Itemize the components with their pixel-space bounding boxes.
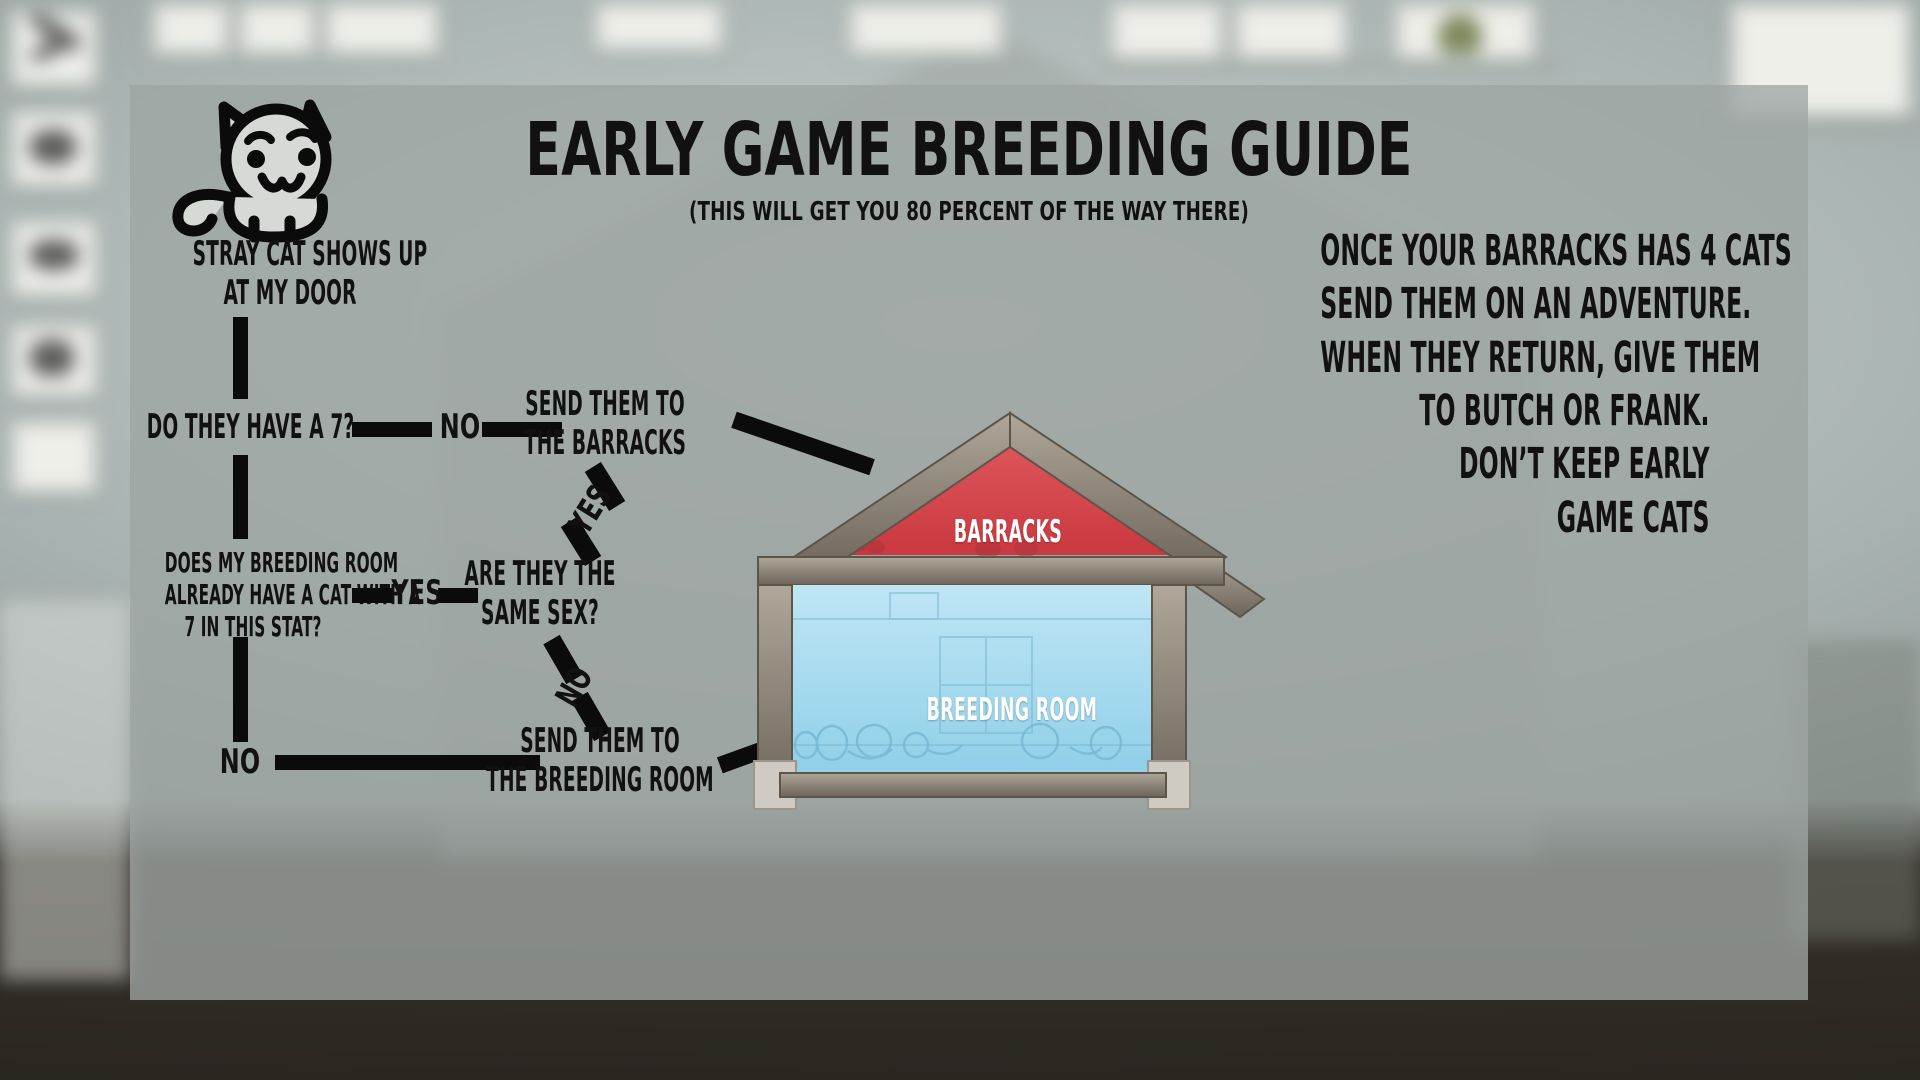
flow-connector-start-to-has7 bbox=[233, 317, 248, 399]
background-picture-frame bbox=[1108, 0, 1226, 64]
background-picture-frame bbox=[8, 418, 100, 496]
flow-node-start-line: STRAY CAT SHOWS UP bbox=[193, 235, 388, 274]
barracks-room-label: BARRACKS bbox=[930, 517, 1086, 548]
flow-connector-has7-to-no bbox=[352, 422, 432, 437]
background-decor-shape bbox=[30, 130, 76, 164]
advice-line: TO BUTCH OR FRANK. bbox=[1320, 385, 1709, 438]
advice-line: ONCE YOUR BARRACKS HAS 4 CATS bbox=[1320, 225, 1709, 278]
advice-line: WHEN THEY RETURN, GIVE THEM bbox=[1320, 332, 1709, 385]
screenshot-root: EARLY GAME BREEDING GUIDE (THIS WILL GET… bbox=[0, 0, 1920, 1080]
breeding-room-label-text: BREEDING ROOM bbox=[918, 695, 1105, 726]
advice-line: SEND THEM ON AN ADVENTURE. bbox=[1320, 278, 1709, 331]
page-title: EARLY GAME BREEDING GUIDE bbox=[315, 113, 1624, 187]
advice-line: DON’T KEEP EARLY bbox=[1320, 438, 1709, 491]
flow-node-send-barracks-line: SEND THEM TO bbox=[495, 385, 714, 424]
flow-edge-label-roomhas7-no: NO bbox=[217, 745, 264, 779]
background-plant bbox=[1438, 14, 1482, 54]
flow-node-start-line: AT MY DOOR bbox=[193, 274, 388, 313]
flow-connector-has7-to-roomhas7 bbox=[233, 455, 248, 539]
background-shelf bbox=[0, 600, 130, 980]
flow-node-room-has-7-line: DOES MY BREEDING ROOM bbox=[165, 547, 341, 579]
flow-node-same-sex: ARE THEY THE SAME SEX? bbox=[427, 555, 653, 633]
flow-connector-roomhas7-to-no bbox=[233, 637, 248, 742]
background-shelf bbox=[1100, 60, 1560, 70]
background-picture-frame bbox=[846, 0, 1006, 58]
flow-node-start: STRAY CAT SHOWS UP AT MY DOOR bbox=[165, 235, 415, 313]
advice-text-block: ONCE YOUR BARRACKS HAS 4 CATS SEND THEM … bbox=[1210, 225, 1709, 545]
flow-node-has-7: DO THEY HAVE A 7? bbox=[122, 408, 348, 447]
flow-node-send-barracks-line: THE BARRACKS bbox=[495, 424, 714, 463]
background-picture-frame bbox=[150, 0, 232, 58]
flow-node-same-sex-line: ARE THEY THE bbox=[452, 555, 628, 594]
breeding-room-label: BREEDING ROOM bbox=[895, 695, 1129, 726]
background-decor-shape bbox=[30, 340, 74, 376]
background-picture-frame bbox=[1232, 0, 1350, 64]
barracks-room-label-text: BARRACKS bbox=[946, 517, 1071, 548]
house-illustration: BARRACKS BREEDING ROOM bbox=[740, 405, 1280, 855]
flow-node-room-has-7-line: 7 IN THIS STAT? bbox=[165, 611, 341, 643]
flow-connector-roomhas7-to-yes bbox=[352, 588, 392, 603]
background-decor-shape bbox=[30, 240, 78, 270]
flow-node-send-breeding-room-line: THE BREEDING ROOM bbox=[469, 761, 731, 800]
flow-node-send-breeding-room-line: SEND THEM TO bbox=[469, 722, 731, 761]
background-picture-frame bbox=[236, 0, 318, 58]
guide-overlay-card: EARLY GAME BREEDING GUIDE (THIS WILL GET… bbox=[130, 85, 1808, 1000]
background-picture-frame bbox=[322, 0, 442, 58]
background-picture-frame bbox=[592, 0, 726, 54]
flow-node-same-sex-line: SAME SEX? bbox=[452, 594, 628, 633]
flow-node-room-has-7-line: ALREADY HAVE A CAT WITH A bbox=[165, 579, 341, 611]
flow-node-room-has-7: DOES MY BREEDING ROOM ALREADY HAVE A CAT… bbox=[140, 547, 366, 643]
flow-node-send-barracks: SEND THEM TO THE BARRACKS bbox=[465, 385, 746, 463]
background-shelf bbox=[1790, 640, 1920, 940]
page-subtitle: (THIS WILL GET YOU 80 PERCENT OF THE WAY… bbox=[315, 199, 1624, 225]
advice-line: GAME CATS bbox=[1320, 492, 1709, 545]
flow-node-has-7-line: DO THEY HAVE A 7? bbox=[147, 408, 323, 447]
